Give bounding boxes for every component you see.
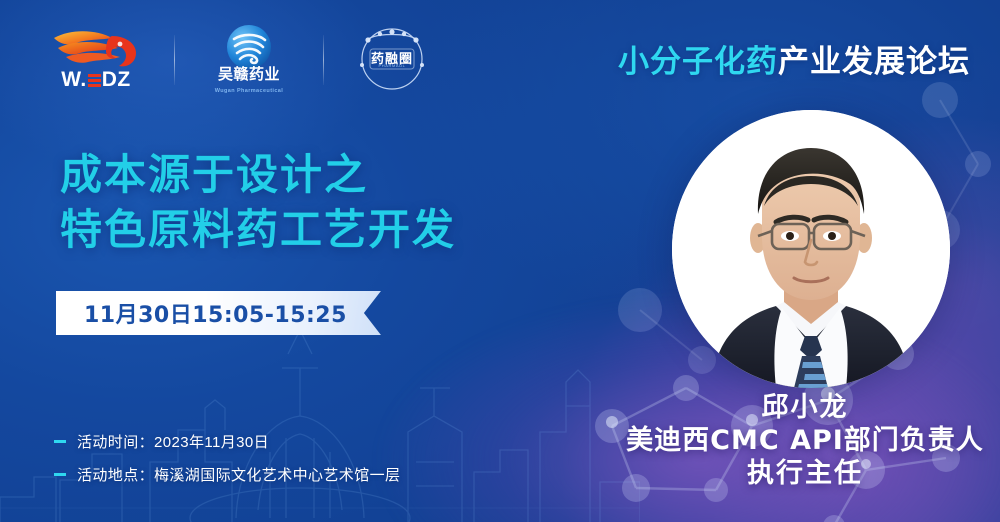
- wedz-wordmark: W.DZ: [40, 68, 152, 92]
- headline-line-2: 特色原料药工艺开发: [60, 203, 456, 258]
- logo-bar: W.DZ 吴赣药业 Wug: [40, 24, 438, 96]
- event-meta: 活动时间：2023年11月30日 活动地点：梅溪湖国际文化艺术中心艺术馆一层: [54, 431, 400, 497]
- logo-wedz[interactable]: W.DZ: [40, 24, 152, 96]
- dash-bullet-icon: [54, 473, 66, 476]
- logo-yaorongquan[interactable]: 药融圈 PHARMADL: [346, 24, 438, 96]
- wedz-bars-icon: [88, 73, 101, 87]
- speaker-role-line-1: 美迪西CMC API部门负责人: [620, 425, 990, 458]
- session-time-badge: 11月30日15:05-15:25: [56, 291, 381, 335]
- forum-title: 小分子化药产业发展论坛: [618, 36, 970, 81]
- forum-title-cyan: 小分子化药: [618, 44, 778, 80]
- wedz-wordmark-suffix: DZ: [102, 68, 131, 91]
- speaker-photo: [672, 110, 950, 388]
- speaker-role-line-2: 执行主任: [620, 458, 990, 491]
- speaker-name: 邱小龙: [620, 392, 990, 425]
- wugan-name-cn: 吴赣药业: [197, 63, 301, 84]
- logo-divider-2: [323, 35, 324, 85]
- yaorongquan-name-en: PHARMADL: [346, 63, 438, 68]
- logo-wugan-pharmaceutical[interactable]: 吴赣药业 Wugan Pharmaceutical: [197, 24, 301, 96]
- event-location-row: 活动地点：梅溪湖国际文化艺术中心艺术馆一层: [54, 464, 400, 485]
- event-time-text: 活动时间：2023年11月30日: [77, 431, 269, 452]
- logo-divider-1: [174, 35, 175, 85]
- speaker-info: 邱小龙 美迪西CMC API部门负责人 执行主任: [620, 392, 990, 491]
- dash-bullet-icon: [54, 440, 66, 443]
- headline: 成本源于设计之 特色原料药工艺开发: [60, 148, 456, 257]
- wedz-phoenix-icon: [46, 24, 146, 72]
- speaker-portrait: [672, 110, 950, 388]
- event-time-row: 活动时间：2023年11月30日: [54, 431, 400, 452]
- wedz-wordmark-prefix: W.: [61, 68, 87, 91]
- event-location-text: 活动地点：梅溪湖国际文化艺术中心艺术馆一层: [77, 464, 400, 485]
- headline-line-1: 成本源于设计之: [60, 148, 456, 203]
- forum-title-white: 产业发展论坛: [778, 44, 970, 80]
- wugan-name-en: Wugan Pharmaceutical: [197, 88, 301, 94]
- event-banner: W.DZ 吴赣药业 Wug: [0, 0, 1000, 522]
